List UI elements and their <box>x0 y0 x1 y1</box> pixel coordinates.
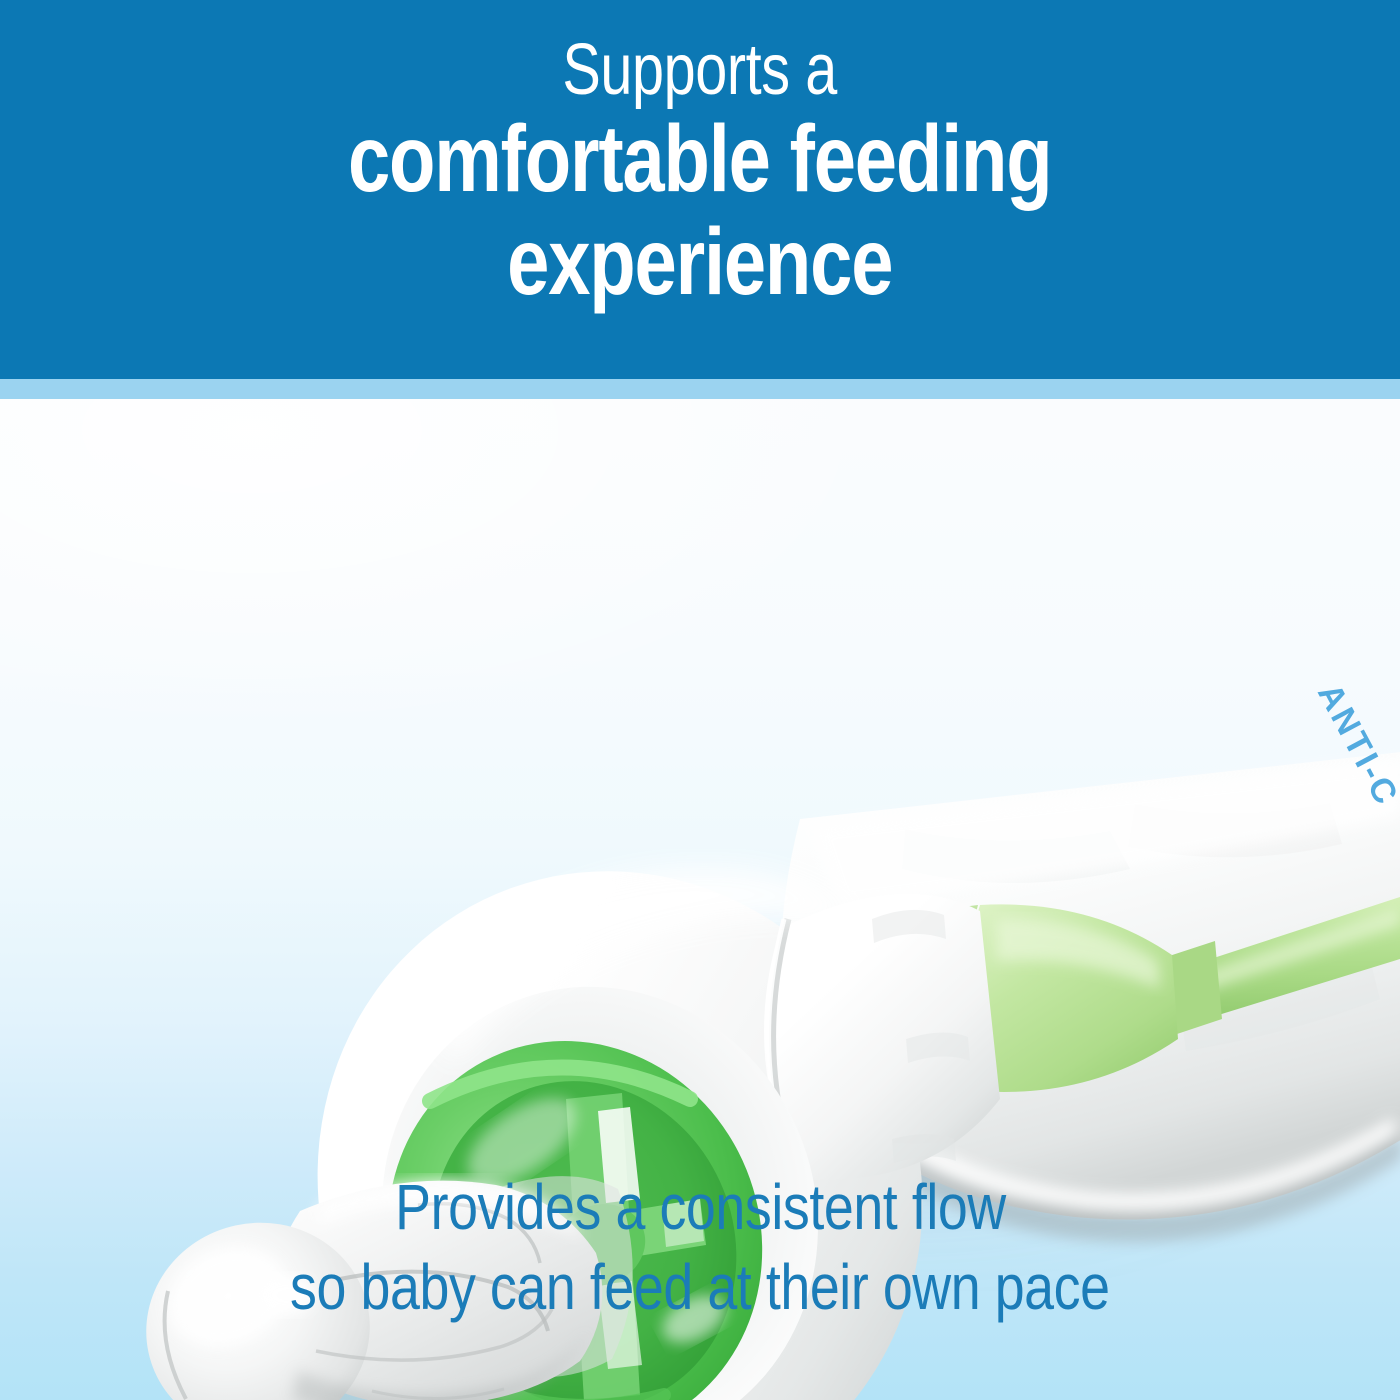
silicone-nipple <box>126 1176 632 1400</box>
header-divider-band <box>0 379 1400 399</box>
header-banner: Supports a comfortable feeding experienc… <box>0 0 1400 379</box>
header-line-1: Supports a <box>563 34 838 107</box>
header-line-3: experience <box>507 214 892 311</box>
product-photo-stage: ANTI-C <box>0 399 1400 1400</box>
product-feature-banner: Supports a comfortable feeding experienc… <box>0 0 1400 1400</box>
baby-bottle-product-illustration <box>0 399 1400 1400</box>
header-line-2: comfortable feeding <box>348 111 1052 208</box>
